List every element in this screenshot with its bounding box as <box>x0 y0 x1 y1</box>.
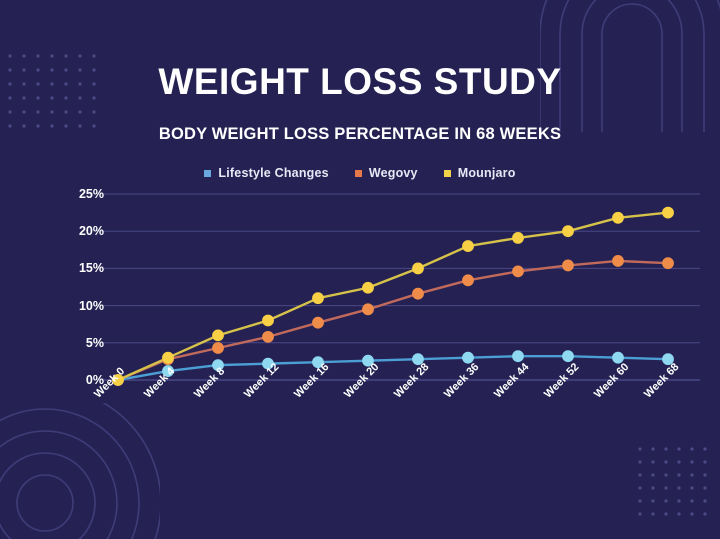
chart-series <box>118 213 668 380</box>
data-point-marker[interactable] <box>513 351 524 362</box>
chart-series <box>118 356 668 380</box>
data-point-marker[interactable] <box>363 282 374 293</box>
data-point-marker[interactable] <box>563 260 574 271</box>
y-axis-tick-label: 0% <box>48 373 104 387</box>
series-line <box>118 213 668 380</box>
line-chart-svg <box>0 0 720 539</box>
data-point-marker[interactable] <box>463 275 474 286</box>
data-point-marker[interactable] <box>213 330 224 341</box>
series-line <box>118 356 668 380</box>
data-point-marker[interactable] <box>413 263 424 274</box>
y-axis-tick-label: 5% <box>48 336 104 350</box>
data-point-marker[interactable] <box>263 315 274 326</box>
y-axis-tick-label: 10% <box>48 299 104 313</box>
data-point-marker[interactable] <box>263 331 274 342</box>
data-point-marker[interactable] <box>613 256 624 267</box>
chart-series-markers <box>113 256 674 386</box>
data-point-marker[interactable] <box>313 293 324 304</box>
data-point-marker[interactable] <box>563 226 574 237</box>
chart-series-markers <box>113 207 674 385</box>
data-point-marker[interactable] <box>613 212 624 223</box>
chart-plot-area: 25%20%15%10%5%0%Week 0Week 4Week 8Week 1… <box>0 0 720 539</box>
data-point-marker[interactable] <box>163 352 174 363</box>
data-point-marker[interactable] <box>413 288 424 299</box>
data-point-marker[interactable] <box>513 232 524 243</box>
y-axis-tick-label: 20% <box>48 224 104 238</box>
data-point-marker[interactable] <box>213 343 224 354</box>
data-point-marker[interactable] <box>463 241 474 252</box>
y-axis-tick-label: 15% <box>48 261 104 275</box>
poster-canvas: WEIGHT LOSS STUDY BODY WEIGHT LOSS PERCE… <box>0 0 720 539</box>
data-point-marker[interactable] <box>663 207 674 218</box>
y-axis-tick-label: 25% <box>48 187 104 201</box>
data-point-marker[interactable] <box>563 351 574 362</box>
data-point-marker[interactable] <box>663 258 674 269</box>
data-point-marker[interactable] <box>513 266 524 277</box>
data-point-marker[interactable] <box>363 304 374 315</box>
data-point-marker[interactable] <box>313 317 324 328</box>
chart-gridlines <box>100 194 700 380</box>
